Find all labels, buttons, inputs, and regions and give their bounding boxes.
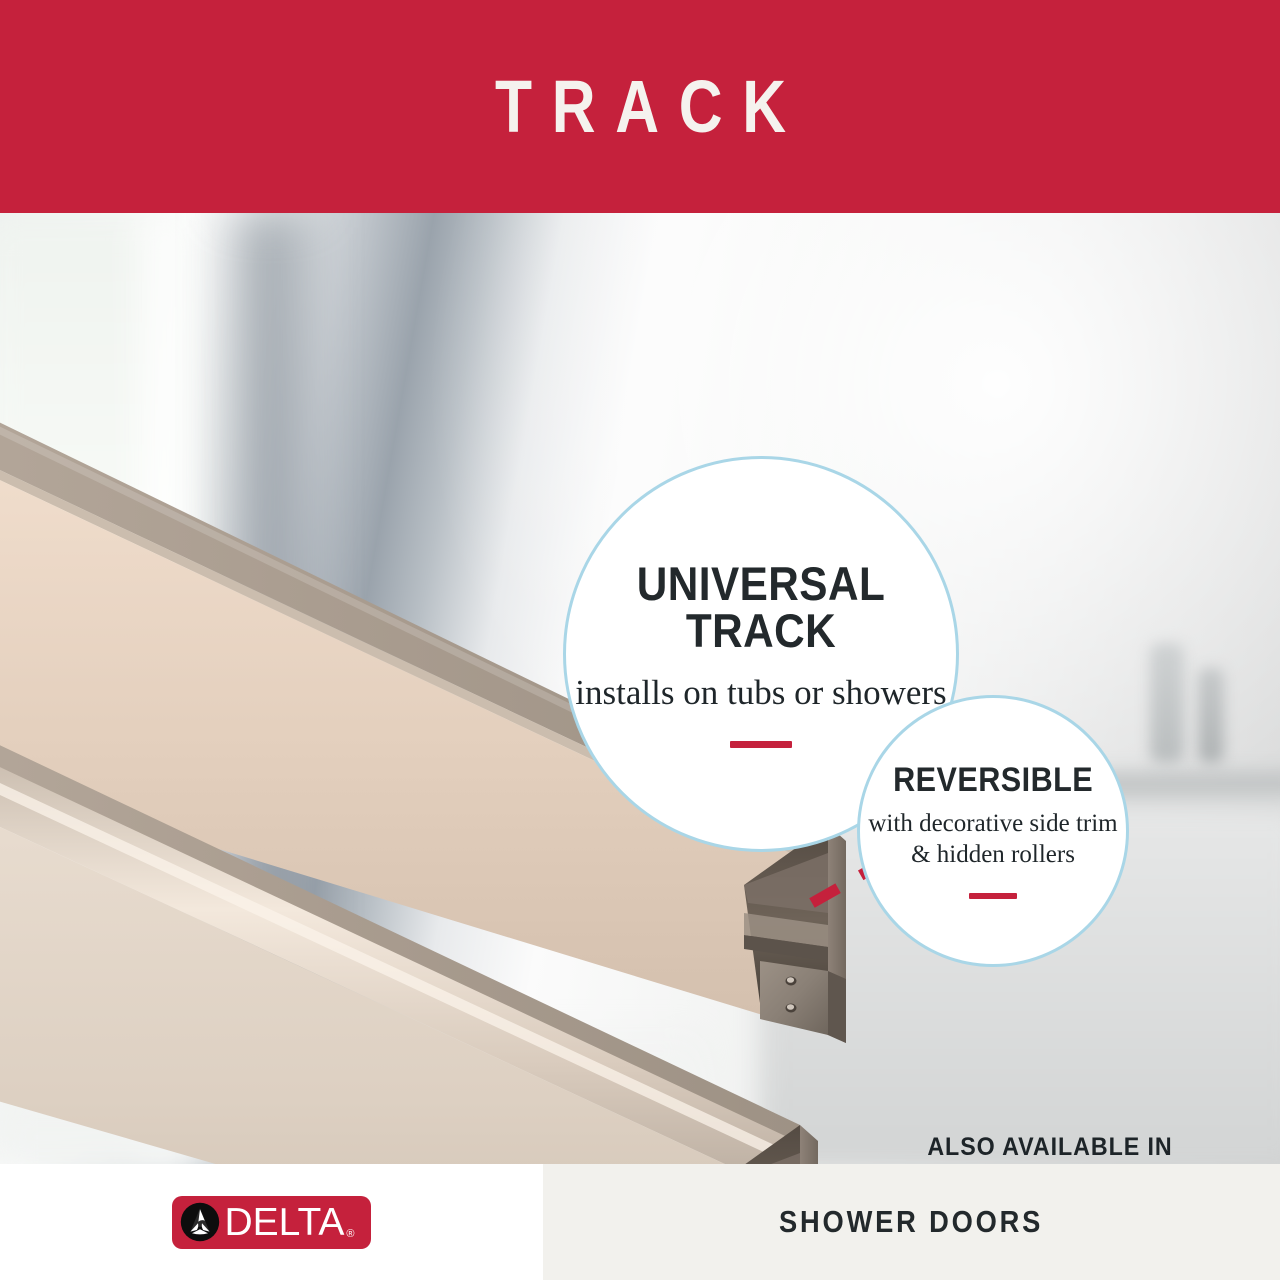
callout-subtext: with decorative side trim & hidden rolle… bbox=[860, 808, 1126, 871]
footer-category-label: SHOWER DOORS bbox=[779, 1204, 1043, 1240]
callout-heading: REVERSIBLE bbox=[893, 763, 1093, 798]
callout-accent-dash bbox=[730, 741, 792, 748]
product-feature-graphic: TRACK bbox=[0, 0, 1280, 1280]
footer-brand-panel: DELTA ® bbox=[0, 1164, 543, 1280]
product-photo-stage: UNIVERSAL TRACK installs on tubs or show… bbox=[0, 213, 1280, 1164]
footer: DELTA ® SHOWER DOORS bbox=[0, 1164, 1280, 1280]
also-available-section: ALSO AVAILABLE IN CHROME MATTE BLACK bbox=[905, 1133, 1195, 1164]
callout-heading: UNIVERSAL TRACK bbox=[586, 560, 937, 656]
header-banner: TRACK bbox=[0, 0, 1280, 213]
delta-logo[interactable]: DELTA ® bbox=[172, 1196, 370, 1249]
callout-accent-dash bbox=[969, 893, 1017, 899]
registered-mark-icon: ® bbox=[346, 1228, 354, 1240]
callout-subtext: installs on tubs or showers bbox=[575, 671, 946, 715]
delta-wordmark: DELTA bbox=[224, 1203, 344, 1242]
page-title: TRACK bbox=[475, 70, 805, 144]
footer-category-panel: SHOWER DOORS bbox=[543, 1164, 1280, 1280]
delta-triangle-icon bbox=[180, 1202, 220, 1242]
also-available-title: ALSO AVAILABLE IN bbox=[915, 1133, 1185, 1162]
callout-reversible[interactable]: REVERSIBLE with decorative side trim & h… bbox=[857, 695, 1129, 967]
